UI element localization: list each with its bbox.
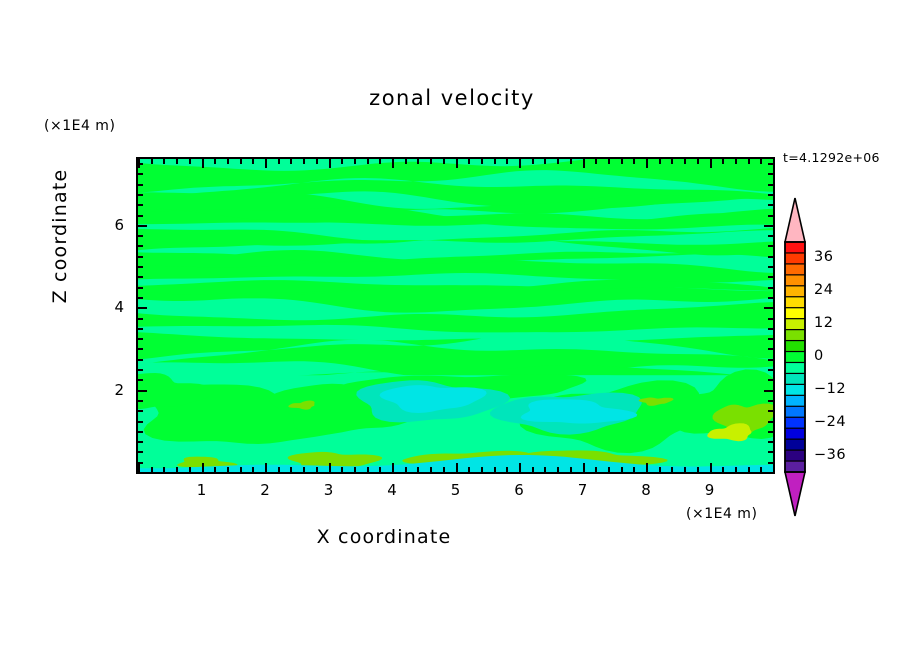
tick-mark (189, 159, 191, 164)
tick-mark (392, 463, 394, 472)
colorbar-tick-label: −24 (814, 414, 846, 430)
x-axis-title: X coordinate (0, 526, 768, 548)
tick-mark (138, 431, 143, 433)
tick-mark (430, 467, 432, 472)
tick-mark (138, 184, 143, 186)
tick-mark (214, 467, 216, 472)
tick-mark (768, 421, 773, 423)
time-annotation: t=4.1292e+06 (783, 150, 880, 165)
tick-mark (764, 307, 773, 309)
tick-mark (202, 463, 204, 472)
tick-mark (278, 159, 280, 164)
tick-mark (341, 159, 343, 164)
tick-mark (768, 287, 773, 289)
tick-mark (768, 348, 773, 350)
tick-mark (138, 256, 143, 258)
tick-mark (710, 159, 712, 168)
tick-mark (379, 159, 381, 164)
x-tick-label: 3 (309, 481, 349, 499)
tick-mark (138, 441, 143, 443)
tick-mark (519, 159, 521, 168)
colorbar-tick-label: 36 (814, 249, 833, 265)
tick-mark (768, 266, 773, 268)
tick-mark (481, 159, 483, 164)
tick-mark (768, 328, 773, 330)
tick-mark (659, 159, 661, 164)
tick-mark (481, 467, 483, 472)
tick-mark (443, 159, 445, 164)
tick-mark (138, 410, 143, 412)
tick-mark (367, 159, 369, 164)
tick-mark (671, 159, 673, 164)
contour-field (138, 159, 773, 472)
tick-mark (748, 467, 750, 472)
tick-mark (760, 467, 762, 472)
tick-mark (202, 159, 204, 168)
tick-mark (138, 421, 143, 423)
tick-mark (456, 463, 458, 472)
tick-mark (768, 194, 773, 196)
tick-mark (138, 297, 143, 299)
tick-mark (252, 159, 254, 164)
tick-mark (303, 159, 305, 164)
tick-mark (278, 467, 280, 472)
tick-mark (768, 410, 773, 412)
contour-plot-figure: zonal velocity (×1E4 m) (×1E4 m) t=4.129… (0, 0, 904, 654)
tick-mark (684, 467, 686, 472)
tick-mark (240, 159, 242, 164)
colorbar-tick-label: 24 (814, 282, 833, 298)
tick-mark (621, 467, 623, 472)
tick-mark (227, 467, 229, 472)
tick-mark (768, 297, 773, 299)
tick-mark (748, 159, 750, 164)
tick-mark (659, 467, 661, 472)
tick-mark (138, 359, 143, 361)
tick-mark (138, 307, 147, 309)
tick-mark (138, 369, 143, 371)
tick-mark (595, 467, 597, 472)
tick-mark (456, 159, 458, 168)
colorbar-tick-label: 0 (814, 348, 824, 364)
tick-mark (405, 467, 407, 472)
tick-mark (430, 159, 432, 164)
tick-mark (163, 467, 165, 472)
tick-mark (768, 276, 773, 278)
tick-mark (138, 390, 147, 392)
tick-mark (768, 338, 773, 340)
page-title: zonal velocity (0, 86, 904, 110)
tick-mark (557, 159, 559, 164)
tick-mark (151, 159, 153, 164)
tick-mark (544, 159, 546, 164)
y-tick-label: 6 (84, 216, 124, 234)
tick-mark (354, 159, 356, 164)
tick-mark (138, 235, 143, 237)
tick-mark (138, 163, 143, 165)
tick-mark (138, 204, 143, 206)
tick-mark (697, 159, 699, 164)
x-tick-label: 1 (182, 481, 222, 499)
tick-mark (544, 467, 546, 472)
tick-mark (290, 159, 292, 164)
tick-mark (768, 462, 773, 464)
tick-mark (417, 467, 419, 472)
tick-mark (735, 159, 737, 164)
tick-mark (138, 338, 143, 340)
tick-mark (570, 159, 572, 164)
tick-mark (252, 467, 254, 472)
tick-mark (138, 266, 143, 268)
x-tick-label: 4 (372, 481, 412, 499)
tick-mark (768, 379, 773, 381)
tick-mark (138, 328, 143, 330)
tick-mark (329, 159, 331, 168)
tick-mark (354, 467, 356, 472)
tick-mark (138, 276, 143, 278)
tick-mark (768, 215, 773, 217)
tick-mark (697, 467, 699, 472)
colorbar-tick-label: 12 (814, 315, 833, 331)
plot-area (136, 157, 775, 474)
tick-mark (768, 400, 773, 402)
tick-mark (392, 159, 394, 168)
x-tick-label: 6 (499, 481, 539, 499)
tick-mark (768, 441, 773, 443)
tick-mark (768, 235, 773, 237)
tick-mark (519, 463, 521, 472)
x-axis-units-label: (×1E4 m) (686, 506, 757, 522)
colorbar (780, 196, 810, 518)
tick-mark (532, 159, 534, 164)
tick-mark (163, 159, 165, 164)
tick-mark (443, 467, 445, 472)
tick-mark (265, 159, 267, 168)
tick-mark (138, 173, 143, 175)
x-tick-label: 8 (626, 481, 666, 499)
tick-mark (768, 245, 773, 247)
tick-mark (768, 173, 773, 175)
tick-mark (768, 204, 773, 206)
tick-mark (138, 400, 143, 402)
tick-mark (595, 159, 597, 164)
tick-mark (621, 159, 623, 164)
tick-mark (768, 184, 773, 186)
tick-mark (764, 390, 773, 392)
tick-mark (138, 462, 143, 464)
tick-mark (316, 467, 318, 472)
tick-mark (506, 159, 508, 164)
tick-mark (138, 463, 140, 472)
tick-mark (710, 463, 712, 472)
tick-mark (290, 467, 292, 472)
tick-mark (405, 159, 407, 164)
tick-mark (138, 348, 143, 350)
x-tick-label: 7 (563, 481, 603, 499)
tick-mark (722, 467, 724, 472)
tick-mark (570, 467, 572, 472)
y-axis-units-label: (×1E4 m) (44, 118, 115, 134)
tick-mark (506, 467, 508, 472)
tick-mark (557, 467, 559, 472)
tick-mark (494, 159, 496, 164)
tick-mark (240, 467, 242, 472)
tick-mark (138, 215, 143, 217)
tick-mark (768, 369, 773, 371)
y-tick-label: 2 (84, 381, 124, 399)
tick-mark (768, 163, 773, 165)
x-tick-label: 9 (690, 481, 730, 499)
colorbar-swatches (780, 196, 810, 518)
tick-mark (189, 467, 191, 472)
tick-mark (227, 159, 229, 164)
tick-mark (768, 431, 773, 433)
tick-mark (735, 467, 737, 472)
tick-mark (768, 256, 773, 258)
y-axis-title: Z coordinate (49, 136, 71, 336)
tick-mark (379, 467, 381, 472)
y-tick-label: 4 (84, 298, 124, 316)
tick-mark (138, 379, 143, 381)
colorbar-tick-label: −36 (814, 447, 846, 463)
tick-mark (138, 194, 143, 196)
tick-mark (608, 159, 610, 164)
tick-mark (646, 159, 648, 168)
tick-mark (768, 359, 773, 361)
tick-mark (367, 467, 369, 472)
x-tick-label: 5 (436, 481, 476, 499)
tick-mark (214, 159, 216, 164)
tick-mark (768, 451, 773, 453)
tick-mark (608, 467, 610, 472)
tick-mark (494, 467, 496, 472)
tick-mark (138, 451, 143, 453)
tick-mark (633, 159, 635, 164)
tick-mark (583, 159, 585, 168)
tick-mark (329, 463, 331, 472)
tick-mark (760, 159, 762, 164)
tick-mark (671, 467, 673, 472)
tick-mark (768, 318, 773, 320)
x-tick-label: 2 (245, 481, 285, 499)
tick-mark (532, 467, 534, 472)
colorbar-tick-label: −12 (814, 381, 846, 397)
tick-mark (138, 318, 143, 320)
tick-mark (468, 159, 470, 164)
tick-mark (417, 159, 419, 164)
tick-mark (646, 463, 648, 472)
tick-mark (722, 159, 724, 164)
tick-mark (138, 245, 143, 247)
tick-mark (176, 159, 178, 164)
tick-mark (316, 159, 318, 164)
tick-mark (176, 467, 178, 472)
tick-mark (583, 463, 585, 472)
tick-mark (468, 467, 470, 472)
tick-mark (138, 225, 147, 227)
tick-mark (764, 225, 773, 227)
tick-mark (151, 467, 153, 472)
tick-mark (265, 463, 267, 472)
tick-mark (633, 467, 635, 472)
tick-mark (138, 287, 143, 289)
tick-mark (341, 467, 343, 472)
tick-mark (684, 159, 686, 164)
tick-mark (303, 467, 305, 472)
